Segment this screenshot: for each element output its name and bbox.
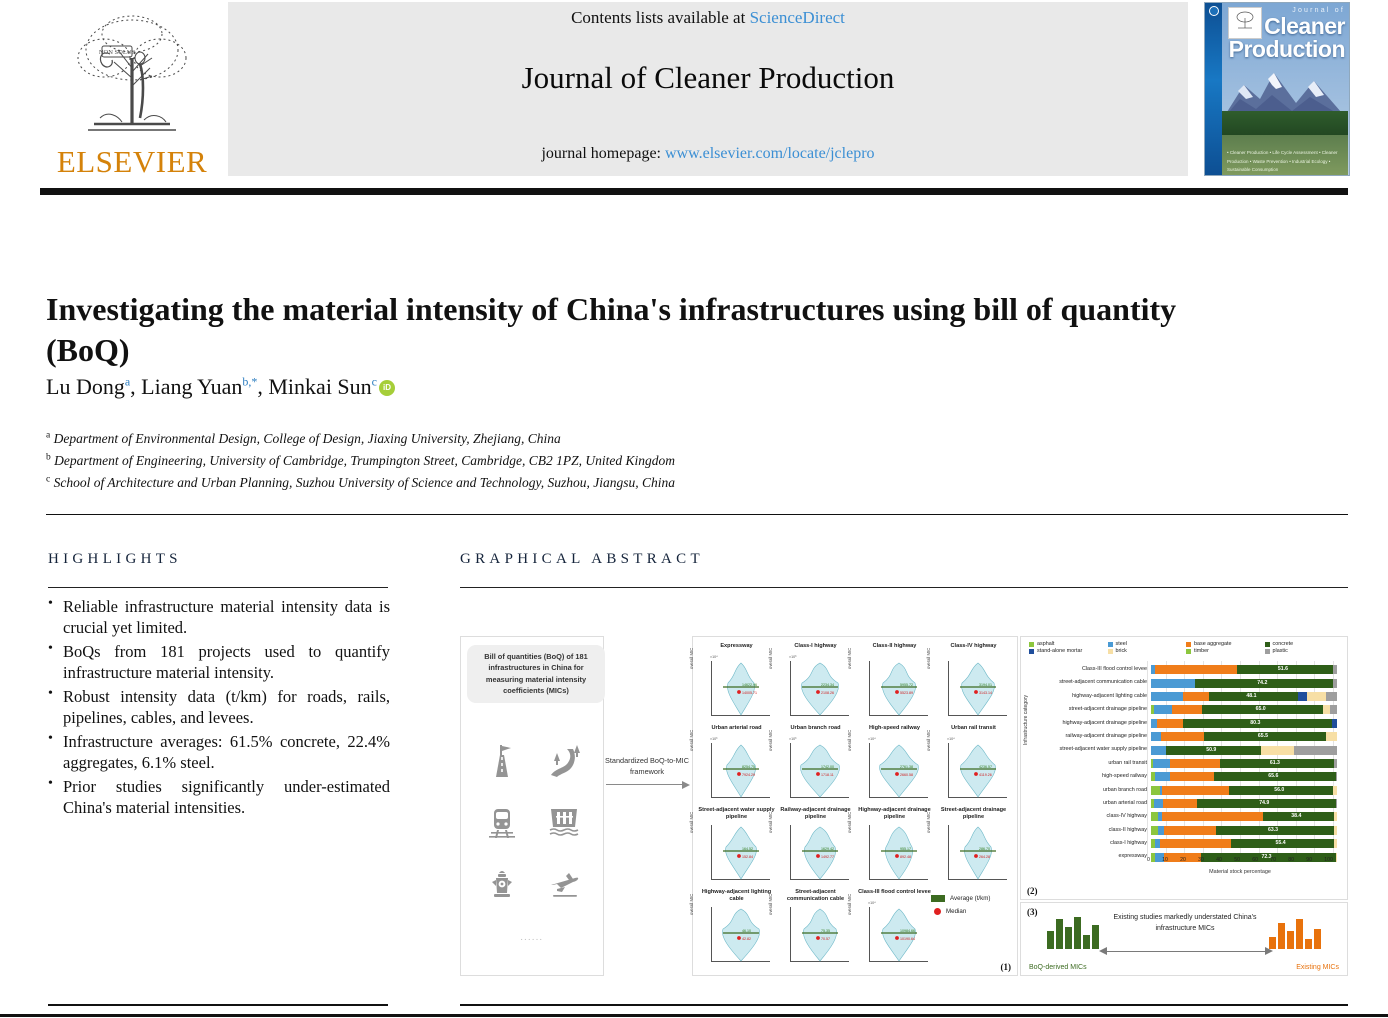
author-0-name: Lu Dong bbox=[46, 374, 125, 399]
x-tick-label: 50 bbox=[1234, 857, 1240, 863]
bar-segment-steel bbox=[1151, 732, 1161, 741]
svg-text:164.52: 164.52 bbox=[742, 847, 753, 851]
violin-plot: Street-adjacent drainage pipelineoverall… bbox=[934, 807, 1013, 886]
mini-bar bbox=[1296, 919, 1303, 949]
svg-text:1492.77: 1492.77 bbox=[821, 855, 834, 859]
bar-row-label: street-adjacent communication cable bbox=[1031, 680, 1151, 685]
highlight-item: Infrastructure averages: 61.5% concrete,… bbox=[48, 731, 390, 774]
bar-segment-plastic bbox=[1336, 799, 1337, 808]
bar-segment-steel bbox=[1151, 692, 1183, 701]
violin-y-axis-label: overall MIC bbox=[689, 812, 694, 833]
bar-chart-x-ticks: 0102030405060708090100 bbox=[1147, 857, 1333, 863]
bar-chart-row: urban rail transit61.3 bbox=[1031, 757, 1341, 770]
author-1-name: Liang Yuan bbox=[141, 374, 242, 399]
existing-mics-label: Existing MICs bbox=[1296, 964, 1339, 971]
bar-segment-plastic bbox=[1334, 759, 1337, 768]
bar-value-label: 63.3 bbox=[1268, 827, 1278, 833]
legend-label: timber bbox=[1194, 648, 1209, 654]
bar-legend-item: timber bbox=[1186, 648, 1263, 654]
legend-label-median: Median bbox=[946, 908, 966, 915]
cover-title-line1: Cleaner bbox=[1223, 15, 1345, 38]
elsevier-tree-icon: NON SOLUS bbox=[48, 6, 216, 146]
violin-y-axis-label: overall MIC bbox=[847, 730, 852, 751]
svg-text:152.84: 152.84 bbox=[742, 855, 753, 859]
svg-text:10190.64: 10190.64 bbox=[900, 937, 915, 941]
arrow-right-head bbox=[1265, 947, 1273, 955]
bar-row-track: 65.5 bbox=[1151, 732, 1337, 741]
elsevier-wordmark: ELSEVIER bbox=[46, 144, 218, 180]
bar-row-track: 50.9 bbox=[1151, 746, 1337, 755]
cover-bullets: • Cleaner Production • Life Cycle Assess… bbox=[1227, 149, 1345, 175]
bar-row-label: urban arterial road bbox=[1031, 801, 1151, 806]
violin-plot-title: Class-I highway bbox=[776, 643, 855, 650]
svg-text:75.35: 75.35 bbox=[821, 929, 830, 933]
airplane-icon bbox=[533, 853, 595, 915]
violin-row: Expresswayoverall MIC×10⁴14622.9614005.7… bbox=[697, 643, 1013, 722]
violin-plot-title: Street-adjacent communication cable bbox=[776, 889, 855, 903]
graphical-abstract-heading: GRAPHICAL ABSTRACT bbox=[460, 551, 704, 568]
bar-value-label: 61.3 bbox=[1270, 760, 1280, 766]
bar-row-track: 38.4 bbox=[1151, 812, 1337, 821]
violin-shape: 955.17892.48 bbox=[871, 825, 927, 881]
affiliation-1-mark: b bbox=[46, 452, 51, 462]
legend-color-swatch bbox=[1265, 642, 1270, 647]
mini-bar bbox=[1065, 927, 1072, 949]
svg-text:3143.14: 3143.14 bbox=[979, 691, 992, 695]
bar-row-track: 48.1 bbox=[1151, 692, 1337, 701]
bar-segment-brick bbox=[1323, 705, 1330, 714]
bar-segment-brick bbox=[1334, 826, 1337, 835]
bar-segment-brick bbox=[1307, 692, 1326, 701]
violin-axis-exponent: ×10⁴ bbox=[710, 655, 718, 659]
bar-chart-x-axis-label: Material stock percentage bbox=[1147, 869, 1333, 875]
author-0-marks: a bbox=[125, 375, 130, 389]
svg-text:4236.57: 4236.57 bbox=[979, 765, 992, 769]
bar-segment-base-aggregate bbox=[1163, 799, 1196, 808]
contents-available-text: Contents lists available at bbox=[571, 8, 749, 27]
legend-color-swatch bbox=[1108, 642, 1113, 647]
contents-available-line: Contents lists available at ScienceDirec… bbox=[228, 8, 1188, 28]
violin-plot: Class-III flood control leveeoverall MIC… bbox=[855, 889, 934, 968]
arrow-right-icon bbox=[604, 781, 690, 789]
violin-row: Urban arterial roadoverall MIC×10³8254.7… bbox=[697, 725, 1013, 804]
bar-segment-brick bbox=[1326, 732, 1337, 741]
violin-y-axis-label: overall MIC bbox=[847, 812, 852, 833]
bar-value-label: 65.0 bbox=[1256, 706, 1266, 712]
bar-chart-row: Class-III flood control levee51.6 bbox=[1031, 663, 1341, 676]
violin-shape: 164.52152.84 bbox=[713, 825, 769, 881]
affiliation-0: a Department of Environmental Design, Co… bbox=[46, 428, 1046, 450]
legend-label: plastic bbox=[1273, 648, 1288, 654]
bar-legend-item: concrete bbox=[1265, 641, 1342, 647]
bar-segment-base-aggregate bbox=[1172, 705, 1202, 714]
violin-y-axis-label: overall MIC bbox=[689, 894, 694, 915]
bar-row-label: high-speed railway bbox=[1031, 774, 1151, 779]
bar-chart-row: class-IV highway38.4 bbox=[1031, 810, 1341, 823]
bar-segment-base-aggregate bbox=[1161, 732, 1204, 741]
violin-shape: 10984.6610190.64 bbox=[871, 907, 927, 963]
violin-plot-title: Urban branch road bbox=[776, 725, 855, 732]
bar-row-track: 65.6 bbox=[1151, 772, 1337, 781]
violin-plot-title: Expressway bbox=[697, 643, 776, 650]
author-2: Minkai Sunc bbox=[268, 374, 395, 399]
ga-input-ellipsis: ...... bbox=[461, 932, 603, 942]
x-tick-label: 80 bbox=[1288, 857, 1294, 863]
violin-plot-title: Railway-adjacent drainage pipeline bbox=[776, 807, 855, 821]
bar-value-label: 65.5 bbox=[1258, 733, 1268, 739]
bar-segment-asphalt bbox=[1151, 786, 1160, 795]
legend-color-swatch bbox=[1029, 642, 1034, 647]
double-arrow-icon bbox=[1099, 947, 1273, 956]
violin-shape: 2761.382660.58 bbox=[871, 743, 927, 799]
bar-chart-row: street-adjacent communication cable74.2 bbox=[1031, 676, 1341, 689]
violin-axis-exponent: ×10³ bbox=[789, 737, 796, 741]
elsevier-logo: NON SOLUS ELSEVIER bbox=[40, 6, 222, 186]
bar-segment-plastic bbox=[1294, 746, 1337, 755]
bar-chart-row: highway-adjacent drainage pipeline80.3 bbox=[1031, 717, 1341, 730]
bar-segment-base-aggregate bbox=[1164, 826, 1216, 835]
legend-label-average: Average (t/km) bbox=[950, 895, 990, 902]
legend-label: brick bbox=[1116, 648, 1127, 654]
bar-row-label: class-I highway bbox=[1031, 841, 1151, 846]
ga-comparison-message: Existing studies markedly understated Ch… bbox=[1107, 913, 1263, 934]
affiliation-2: c School of Architecture and Urban Plann… bbox=[46, 472, 1046, 494]
ga-panel-1-number: (1) bbox=[1001, 962, 1012, 972]
violin-plot: Urban rail transitoverall MIC×10⁴4236.57… bbox=[934, 725, 1013, 804]
svg-text:264.28: 264.28 bbox=[979, 855, 990, 859]
violin-plot: High-speed railwayoverall MIC×10⁴2761.38… bbox=[855, 725, 934, 804]
bar-segment-base-aggregate bbox=[1162, 786, 1229, 795]
svg-text:5955.72: 5955.72 bbox=[900, 683, 913, 687]
bar-row-track: 56.0 bbox=[1151, 786, 1337, 795]
author-1-marks: b,* bbox=[242, 375, 257, 389]
ga-comparison-panel: (3) Existing studies markedly understate… bbox=[1020, 902, 1348, 976]
bar-segment-base-aggregate bbox=[1162, 812, 1262, 821]
bar-legend-item: base aggregate bbox=[1186, 641, 1263, 647]
x-tick-label: 20 bbox=[1180, 857, 1186, 863]
bar-row-track: 74.9 bbox=[1151, 799, 1337, 808]
journal-header: NON SOLUS ELSEVIER Contents lists availa… bbox=[0, 0, 1388, 196]
violin-plot-title: Class-III flood control levee bbox=[855, 889, 934, 896]
orcid-icon[interactable] bbox=[379, 380, 395, 396]
violin-legend: Average (t/km) Median bbox=[931, 895, 1015, 921]
bar-chart-x-axis: 0102030405060708090100 bbox=[1147, 857, 1333, 863]
mini-bar bbox=[1074, 917, 1081, 949]
legend-color-swatch bbox=[1186, 642, 1191, 647]
violin-plot-title: Highway-adjacent drainage pipeline bbox=[855, 807, 934, 821]
legend-label: steel bbox=[1116, 641, 1127, 647]
highlight-item: BoQs from 181 projects used to quantify … bbox=[48, 641, 390, 684]
ga-input-caption: Bill of quantities (BoQ) of 181 infrastr… bbox=[467, 645, 605, 703]
svg-text:2108.26: 2108.26 bbox=[821, 691, 834, 695]
svg-text:4119.26: 4119.26 bbox=[979, 773, 992, 777]
x-tick-label: 100 bbox=[1324, 857, 1333, 863]
bar-value-label: 56.0 bbox=[1274, 787, 1284, 793]
journal-cover-thumbnail: Journal of Cleaner Production • Cleaner … bbox=[1204, 2, 1350, 176]
mini-bar bbox=[1056, 919, 1063, 949]
violin-y-axis-label: overall MIC bbox=[926, 812, 931, 833]
header-bottom-rule bbox=[40, 188, 1348, 195]
x-tick-label: 40 bbox=[1216, 857, 1222, 863]
mini-bar bbox=[1083, 935, 1090, 949]
violin-y-axis-label: overall MIC bbox=[847, 648, 852, 669]
existing-mini-bar-chart bbox=[1269, 917, 1321, 949]
x-tick-label: 10 bbox=[1162, 857, 1168, 863]
violin-y-axis-label: overall MIC bbox=[768, 730, 773, 751]
violin-y-axis-label: overall MIC bbox=[926, 648, 931, 669]
bar-segment-brick bbox=[1334, 839, 1337, 848]
violin-plot-title: Street-adjacent drainage pipeline bbox=[934, 807, 1013, 821]
violin-shape: 4236.574119.26 bbox=[950, 743, 1006, 799]
page-bottom-rule bbox=[0, 1014, 1388, 1017]
page-title: Investigating the material intensity of … bbox=[46, 289, 1186, 371]
bar-row-track: 74.2 bbox=[1151, 679, 1337, 688]
bar-segment-base-aggregate bbox=[1155, 665, 1237, 674]
bar-value-label: 74.2 bbox=[1257, 680, 1267, 686]
journal-title: Journal of Cleaner Production bbox=[228, 60, 1188, 96]
bar-value-label: 51.6 bbox=[1278, 666, 1288, 672]
violin-plot-title: Class-II highway bbox=[855, 643, 934, 650]
x-tick-label: 0 bbox=[1147, 857, 1150, 863]
x-tick-label: 90 bbox=[1306, 857, 1312, 863]
journal-homepage-link[interactable]: www.elsevier.com/locate/jclepro bbox=[665, 145, 875, 162]
bar-segment-mortar bbox=[1298, 692, 1307, 701]
bar-segment-base-aggregate bbox=[1183, 692, 1209, 701]
violin-plot: Urban branch roadoverall MIC×10³1742.001… bbox=[776, 725, 855, 804]
bar-row-label: class-IV highway bbox=[1031, 814, 1151, 819]
author-list: Lu Donga, Liang Yuanb,*, Minkai Sunc bbox=[46, 374, 395, 400]
svg-text:2660.58: 2660.58 bbox=[900, 773, 913, 777]
bar-segment-steel bbox=[1151, 746, 1166, 755]
violin-shape: 5955.725523.89 bbox=[871, 661, 927, 717]
ga-framework-arrow: Standardized BoQ-to-MIC framework bbox=[604, 756, 690, 789]
bar-segment-steel bbox=[1153, 759, 1170, 768]
violin-y-axis-label: overall MIC bbox=[768, 648, 773, 669]
cover-title-line2: Production bbox=[1223, 38, 1345, 61]
svg-text:7924.29: 7924.29 bbox=[742, 773, 755, 777]
svg-text:2761.38: 2761.38 bbox=[900, 765, 913, 769]
violin-axis-exponent: ×10³ bbox=[789, 655, 796, 659]
highlight-item: Robust intensity data (t/km) for roads, … bbox=[48, 686, 390, 729]
violin-y-axis-label: overall MIC bbox=[689, 648, 694, 669]
violin-axis-exponent: ×10⁴ bbox=[947, 737, 955, 741]
violin-axis-exponent: ×10³ bbox=[710, 737, 717, 741]
bar-row-track: 55.4 bbox=[1151, 839, 1337, 848]
bar-segment-plastic bbox=[1333, 665, 1337, 674]
violin-plot-title: High-speed railway bbox=[855, 725, 934, 732]
ga-panel-2-number: (2) bbox=[1027, 886, 1038, 896]
bar-value-label: 38.4 bbox=[1291, 813, 1301, 819]
mini-bar bbox=[1314, 929, 1321, 949]
x-tick-label: 60 bbox=[1252, 857, 1258, 863]
legend-color-swatch bbox=[1265, 649, 1270, 654]
author-1: Liang Yuanb,* bbox=[141, 374, 257, 399]
violin-y-axis-label: overall MIC bbox=[768, 894, 773, 915]
bar-row-label: class-II highway bbox=[1031, 828, 1151, 833]
bar-row-label: street-adjacent water supply pipeline bbox=[1031, 747, 1151, 752]
legend-label: concrete bbox=[1273, 641, 1294, 647]
journal-homepage-line: journal homepage: www.elsevier.com/locat… bbox=[228, 145, 1188, 163]
bar-row-track: 65.0 bbox=[1151, 705, 1337, 714]
violin-shape: 46.1042.82 bbox=[713, 907, 769, 963]
highlights-heading: HIGHLIGHTS bbox=[48, 551, 182, 568]
legend-color-swatch bbox=[1108, 649, 1113, 654]
bar-chart-row: urban arterial road74.9 bbox=[1031, 797, 1341, 810]
bar-segment-plastic bbox=[1333, 679, 1337, 688]
bar-row-label: urban rail transit bbox=[1031, 761, 1151, 766]
section-separator-rule bbox=[46, 514, 1348, 515]
winding-road-icon bbox=[533, 729, 595, 791]
bar-segment-asphalt bbox=[1151, 826, 1158, 835]
violin-y-axis-label: overall MIC bbox=[689, 730, 694, 751]
violin-plot: Highway-adjacent lighting cableoverall M… bbox=[697, 889, 776, 968]
bar-row-label: highway-adjacent lighting cable bbox=[1031, 694, 1151, 699]
arrow-shaft bbox=[1107, 951, 1265, 952]
legend-label: base aggregate bbox=[1194, 641, 1231, 647]
bar-segment-steel bbox=[1155, 772, 1170, 781]
affiliation-2-mark: c bbox=[46, 474, 50, 484]
violin-shape: 2234.342108.26 bbox=[792, 661, 848, 717]
cover-title: Cleaner Production bbox=[1223, 15, 1345, 61]
highlights-bottom-rule bbox=[48, 1004, 388, 1006]
svg-text:286.70: 286.70 bbox=[979, 847, 990, 851]
arrow-left-head bbox=[1099, 947, 1107, 955]
svg-text:3194.01: 3194.01 bbox=[979, 683, 992, 687]
bar-chart-row: class-I highway55.4 bbox=[1031, 837, 1341, 850]
violin-plot: Railway-adjacent drainage pipelineoveral… bbox=[776, 807, 855, 886]
bar-legend-item: stand-alone mortar bbox=[1029, 648, 1106, 654]
bar-chart-row: urban branch road56.0 bbox=[1031, 784, 1341, 797]
violin-row: Street-adjacent water supply pipelineove… bbox=[697, 807, 1013, 886]
ga-input-panel: Bill of quantities (BoQ) of 181 infrastr… bbox=[460, 636, 604, 976]
bar-chart-rows: Class-III flood control levee51.6street-… bbox=[1031, 663, 1341, 864]
mini-bar bbox=[1092, 925, 1099, 949]
mini-bar bbox=[1287, 931, 1294, 949]
violin-plot-title: Street-adjacent water supply pipeline bbox=[697, 807, 776, 821]
svg-text:1742.00: 1742.00 bbox=[821, 765, 834, 769]
bar-segment-steel bbox=[1151, 679, 1195, 688]
violin-shape: 8254.757924.29 bbox=[713, 743, 769, 799]
bar-row-track: 63.3 bbox=[1151, 826, 1337, 835]
svg-text:2234.34: 2234.34 bbox=[821, 683, 834, 687]
bar-row-label: expressway bbox=[1031, 854, 1151, 859]
svg-text:NON SOLUS: NON SOLUS bbox=[99, 49, 136, 56]
bar-segment-steel bbox=[1154, 799, 1163, 808]
average-swatch-icon bbox=[931, 895, 945, 902]
bar-segment-plastic bbox=[1336, 772, 1337, 781]
violin-shape: 1629.421492.77 bbox=[792, 825, 848, 881]
svg-text:46.10: 46.10 bbox=[742, 929, 751, 933]
highlights-rule bbox=[48, 587, 388, 588]
svg-text:10984.66: 10984.66 bbox=[900, 929, 915, 933]
legend-label: stand-alone mortar bbox=[1037, 648, 1082, 654]
ga-violin-panel: Highway-adjacent lighting cableoverall M… bbox=[692, 636, 1018, 976]
violin-plot: Class-I highwayoverall MIC×10³2234.34210… bbox=[776, 643, 855, 722]
author-0: Lu Donga bbox=[46, 374, 130, 399]
svg-text:8254.75: 8254.75 bbox=[742, 765, 755, 769]
fire-hydrant-icon bbox=[471, 853, 533, 915]
affiliation-1: b Department of Engineering, University … bbox=[46, 450, 1046, 472]
bar-chart-row: class-II highway63.3 bbox=[1031, 824, 1341, 837]
highlights-list: Reliable infrastructure material intensi… bbox=[48, 596, 390, 820]
bar-value-label: 65.6 bbox=[1268, 773, 1278, 779]
svg-text:955.17: 955.17 bbox=[900, 847, 911, 851]
violin-plot: Urban arterial roadoverall MIC×10³8254.7… bbox=[697, 725, 776, 804]
affiliation-0-text: Department of Environmental Design, Coll… bbox=[54, 431, 561, 446]
bar-value-label: 74.9 bbox=[1259, 800, 1269, 806]
x-tick-label: 70 bbox=[1270, 857, 1276, 863]
bar-segment-plastic bbox=[1326, 692, 1337, 701]
bar-row-label: street-adjacent drainage pipeline bbox=[1031, 707, 1151, 712]
violin-y-axis-label: overall MIC bbox=[847, 894, 852, 915]
boq-derived-mics-label: BoQ-derived MICs bbox=[1029, 964, 1087, 971]
author-2-name: Minkai Sun bbox=[268, 374, 371, 399]
bar-segment-brick bbox=[1333, 786, 1337, 795]
bar-segment-asphalt bbox=[1151, 812, 1158, 821]
bar-legend-item: steel bbox=[1108, 641, 1185, 647]
bar-chart-y-axis-label: Infrastructure category bbox=[1023, 695, 1029, 745]
violin-plot: Street-adjacent communication cableovera… bbox=[776, 889, 855, 968]
legend-color-swatch bbox=[1029, 649, 1034, 654]
violin-axis-exponent: ×10⁴ bbox=[868, 737, 876, 741]
bar-segment-brick bbox=[1261, 746, 1294, 755]
graphical-abstract-rule bbox=[460, 587, 1348, 588]
violin-plot: Class-II highwayoverall MIC5955.725523.8… bbox=[855, 643, 934, 722]
bar-segment-mortar bbox=[1332, 719, 1337, 728]
boq-mini-bar-chart bbox=[1047, 917, 1099, 949]
violin-plot: Street-adjacent water supply pipelineove… bbox=[697, 807, 776, 886]
highlight-item: Prior studies significantly under-estima… bbox=[48, 776, 390, 819]
bar-row-track: 51.6 bbox=[1151, 665, 1337, 674]
violin-shape: 14622.9614005.71 bbox=[713, 661, 769, 717]
svg-text:1629.42: 1629.42 bbox=[821, 847, 834, 851]
violin-shape: 3194.013143.14 bbox=[950, 661, 1006, 717]
legend-color-swatch bbox=[1186, 649, 1191, 654]
highlight-item: Reliable infrastructure material intensi… bbox=[48, 596, 390, 639]
graphical-abstract-figure: Bill of quantities (BoQ) of 181 infrastr… bbox=[458, 628, 1348, 986]
bar-row-label: urban branch road bbox=[1031, 788, 1151, 793]
bar-segment-base-aggregate bbox=[1170, 759, 1220, 768]
svg-text:70.57: 70.57 bbox=[821, 937, 830, 941]
legend-label: asphalt bbox=[1037, 641, 1054, 647]
bar-value-label: 55.4 bbox=[1276, 840, 1286, 846]
x-tick-label: 30 bbox=[1198, 857, 1204, 863]
infrastructure-icon-grid bbox=[471, 729, 595, 915]
violin-shape: 1742.001718.11 bbox=[792, 743, 848, 799]
median-dot-icon bbox=[934, 908, 941, 915]
svg-text:5523.89: 5523.89 bbox=[900, 691, 913, 695]
svg-text:14622.96: 14622.96 bbox=[742, 683, 757, 687]
svg-text:42.82: 42.82 bbox=[742, 937, 751, 941]
ga-framework-arrow-label: Standardized BoQ-to-MIC framework bbox=[604, 756, 690, 778]
sciencedirect-link[interactable]: ScienceDirect bbox=[750, 8, 845, 27]
svg-text:14005.71: 14005.71 bbox=[742, 691, 757, 695]
bar-segment-base-aggregate bbox=[1160, 839, 1231, 848]
bar-segment-plastic bbox=[1330, 705, 1337, 714]
bar-segment-brick bbox=[1336, 853, 1337, 862]
bar-segment-steel bbox=[1154, 705, 1173, 714]
bar-chart-row: street-adjacent drainage pipeline65.0 bbox=[1031, 703, 1341, 716]
author-2-marks: c bbox=[372, 375, 377, 389]
violin-plot-title: Urban rail transit bbox=[934, 725, 1013, 732]
journal-homepage-label: journal homepage: bbox=[541, 145, 665, 162]
affiliation-2-text: School of Architecture and Urban Plannin… bbox=[54, 475, 675, 490]
bar-value-label: 48.1 bbox=[1246, 693, 1256, 699]
violin-plot: Class-IV highwayoverall MIC3194.013143.1… bbox=[934, 643, 1013, 722]
affiliation-list: a Department of Environmental Design, Co… bbox=[46, 428, 1046, 494]
cover-corner-dot bbox=[1209, 6, 1219, 16]
violin-shape: 286.70264.28 bbox=[950, 825, 1006, 881]
